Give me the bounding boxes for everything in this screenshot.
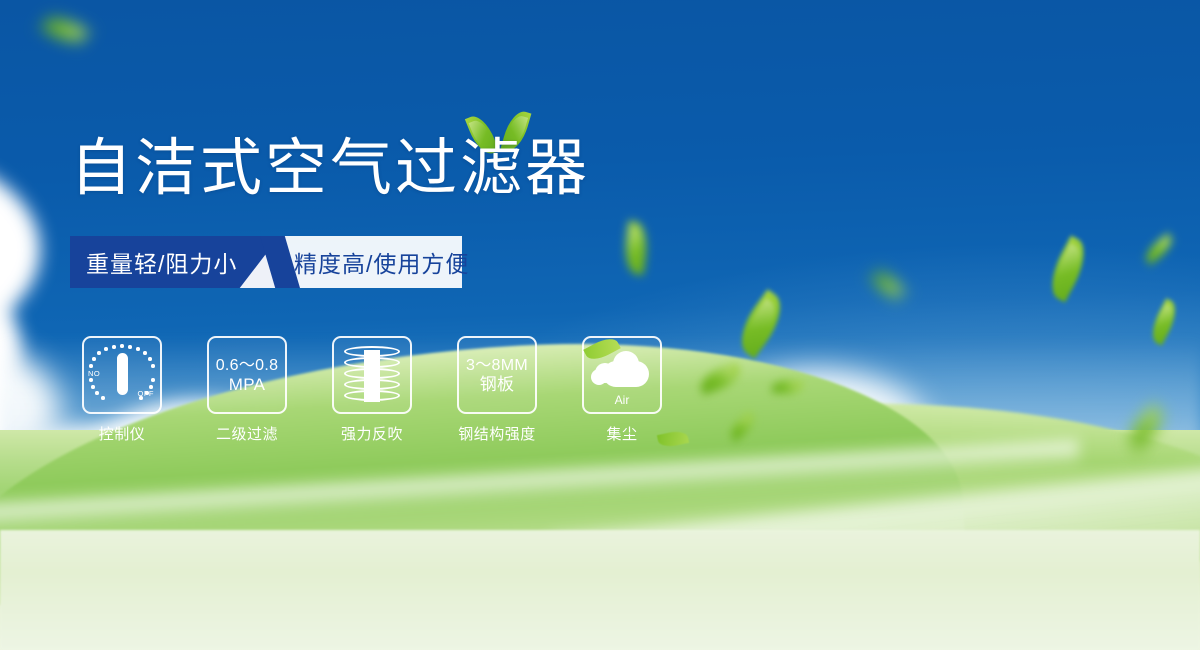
- dial-knob: [117, 353, 128, 395]
- feature-icon-box: 3〜8MM 钢板: [457, 336, 537, 414]
- air-label: Air: [589, 393, 655, 407]
- steel-value-line1: 3〜8MM: [466, 356, 528, 375]
- dial-on-label: NO: [88, 369, 100, 378]
- feature-caption: 二级过滤: [207, 423, 287, 444]
- feature-item-control: NO OFF: [82, 336, 162, 444]
- steel-value-line2: 钢板: [466, 375, 528, 394]
- filter-stack-icon: [344, 346, 400, 404]
- feature-item-dust: Air 集尘: [582, 336, 662, 444]
- feature-icon-box: Air: [582, 336, 662, 414]
- foreground-grass: [0, 530, 1200, 650]
- feature-icon-box: [332, 336, 412, 414]
- feature-icon-box: 0.6〜0.8 MPA: [207, 336, 287, 414]
- air-cloud-icon: Air: [589, 347, 655, 403]
- product-hero-banner: 自洁式空气过滤器 重量轻/阻力小 精度高/使用方便 NO OFF: [0, 0, 1200, 650]
- feature-item-steel: 3〜8MM 钢板 钢结构强度: [457, 336, 537, 444]
- feature-caption: 钢结构强度: [457, 423, 537, 444]
- feature-caption: 强力反吹: [332, 423, 412, 444]
- feature-icon-box: NO OFF: [82, 336, 162, 414]
- subtitle-left-text: 重量轻/阻力小: [86, 236, 237, 288]
- steel-plate-text-icon: 3〜8MM 钢板: [466, 356, 528, 394]
- pressure-text-icon: 0.6〜0.8 MPA: [216, 356, 279, 394]
- subtitle-right-text: 精度高/使用方便: [294, 236, 469, 288]
- cloud-body: [603, 361, 649, 387]
- pressure-value-line1: 0.6〜0.8: [216, 356, 279, 375]
- feature-item-blowback: 强力反吹: [332, 336, 412, 444]
- pressure-value-line2: MPA: [216, 375, 279, 394]
- feature-caption: 集尘: [582, 423, 662, 444]
- feature-item-pressure: 0.6〜0.8 MPA 二级过滤: [207, 336, 287, 444]
- page-title: 自洁式空气过滤器: [70, 138, 590, 200]
- control-dial-icon: NO OFF: [89, 344, 155, 406]
- feature-caption: 控制仪: [82, 423, 162, 444]
- subtitle-bar: 重量轻/阻力小 精度高/使用方便: [70, 236, 462, 288]
